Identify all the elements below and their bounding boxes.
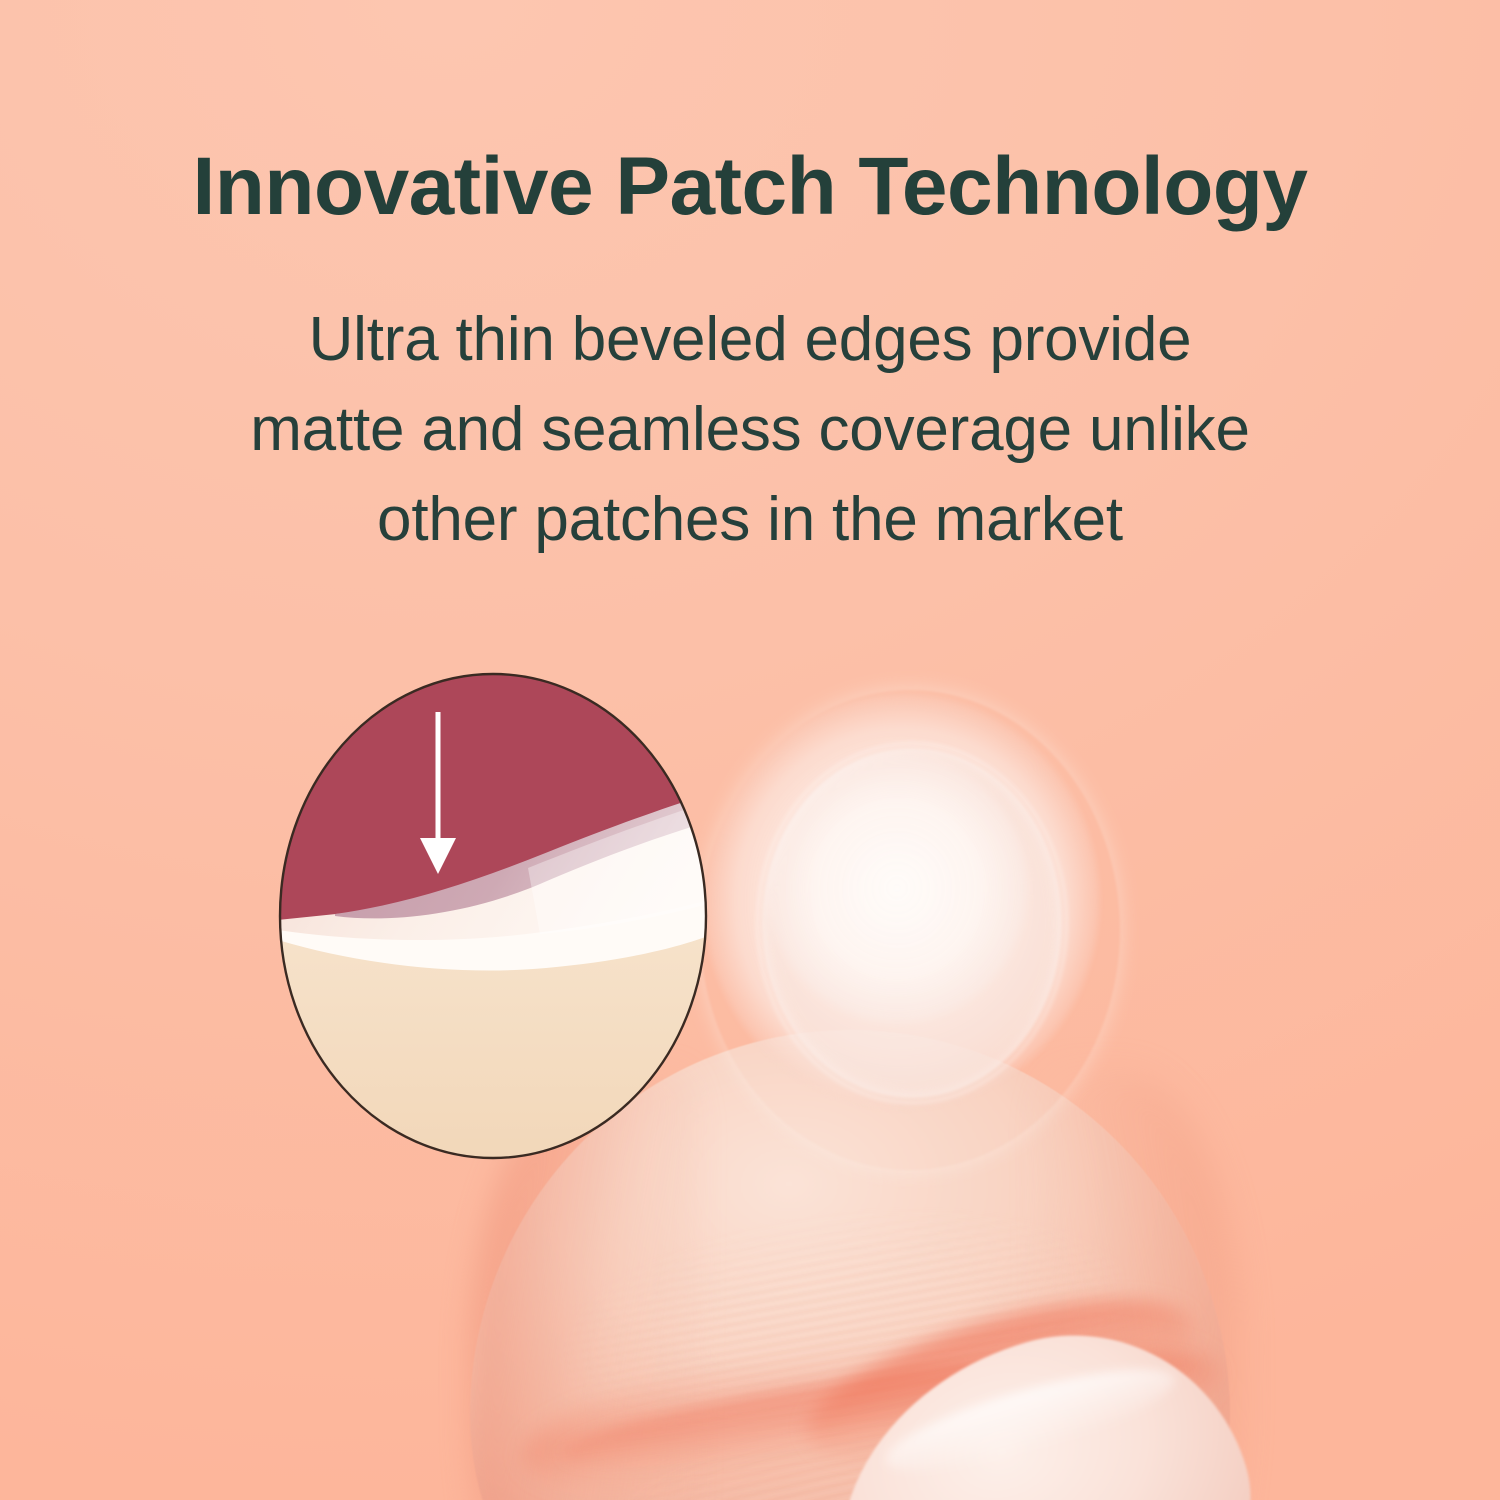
page-title: Innovative Patch Technology [0,146,1500,228]
subtitle-line-1: Ultra thin beveled edges provide [160,295,1340,385]
subtitle-line-2: matte and seamless coverage unlike [160,385,1340,475]
subtitle-block: Ultra thin beveled edges provide matte a… [160,295,1340,565]
cross-section-diagram [278,672,708,1160]
subtitle-line-3: other patches in the market [160,475,1340,565]
fingertip-photo [0,600,1500,1500]
product-feature-graphic: Innovative Patch Technology Ultra thin b… [0,0,1500,1500]
patch-rim-highlight [756,742,1068,1104]
